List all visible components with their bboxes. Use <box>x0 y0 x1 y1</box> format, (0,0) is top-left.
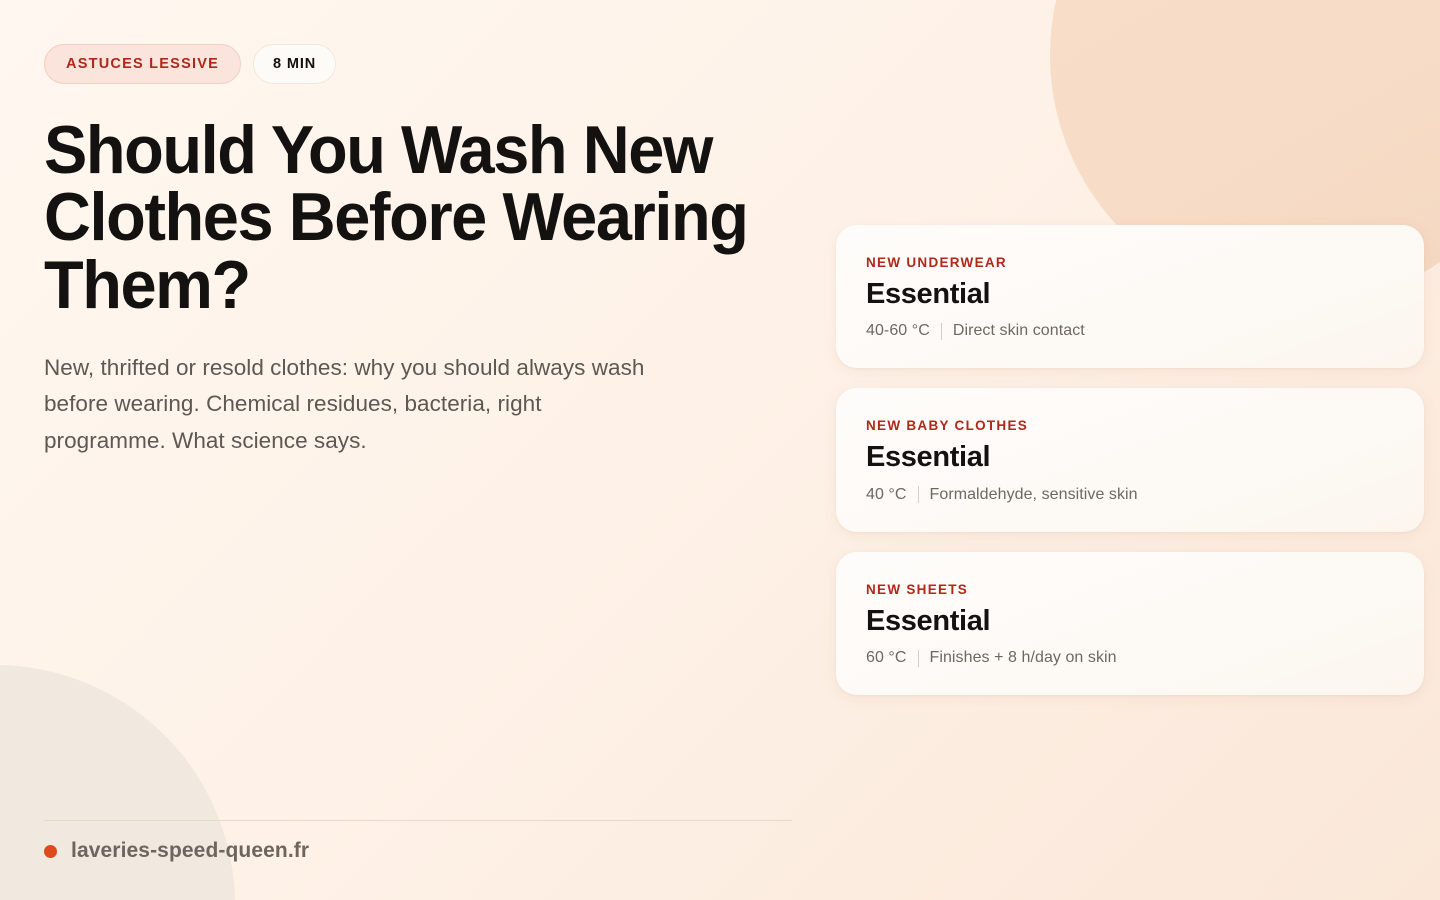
article-deck: New, thrifted or resold clothes: why you… <box>44 350 669 459</box>
card-kicker: NEW UNDERWEAR <box>866 255 1394 270</box>
divider-icon <box>918 486 919 503</box>
card-temperature: 40-60 °C <box>866 322 930 340</box>
footer: laveries-speed-queen.fr <box>44 820 792 863</box>
card-title: Essential <box>866 279 1394 309</box>
list-item[interactable]: NEW BABY CLOTHES Essential 40 °C Formald… <box>836 388 1424 531</box>
recommendation-card-list: NEW UNDERWEAR Essential 40-60 °C Direct … <box>836 225 1424 695</box>
hero-content: ASTUCES LESSIVE 8 MIN Should You Wash Ne… <box>0 0 1440 900</box>
badge-row: ASTUCES LESSIVE 8 MIN <box>44 44 804 84</box>
card-kicker: NEW BABY CLOTHES <box>866 418 1394 433</box>
card-meta: 40 °C Formaldehyde, sensitive skin <box>866 486 1394 504</box>
card-reason: Finishes + 8 h/day on skin <box>930 649 1117 667</box>
page-title: Should You Wash New Clothes Before Weari… <box>44 117 770 319</box>
article-header: ASTUCES LESSIVE 8 MIN Should You Wash Ne… <box>44 44 804 459</box>
card-meta: 40-60 °C Direct skin contact <box>866 322 1394 340</box>
card-title: Essential <box>866 442 1394 472</box>
footer-divider <box>44 820 792 821</box>
card-reason: Direct skin contact <box>953 322 1085 340</box>
site-url[interactable]: laveries-speed-queen.fr <box>71 839 309 863</box>
dot-icon <box>44 845 57 858</box>
list-item[interactable]: NEW UNDERWEAR Essential 40-60 °C Direct … <box>836 225 1424 368</box>
card-temperature: 40 °C <box>866 486 907 504</box>
card-title: Essential <box>866 606 1394 636</box>
card-temperature: 60 °C <box>866 649 907 667</box>
card-kicker: NEW SHEETS <box>866 582 1394 597</box>
category-badge[interactable]: ASTUCES LESSIVE <box>44 44 241 84</box>
read-time-badge: 8 MIN <box>253 44 336 84</box>
divider-icon <box>918 650 919 667</box>
divider-icon <box>941 323 942 340</box>
card-meta: 60 °C Finishes + 8 h/day on skin <box>866 649 1394 667</box>
card-reason: Formaldehyde, sensitive skin <box>930 486 1138 504</box>
footer-row: laveries-speed-queen.fr <box>44 839 792 863</box>
list-item[interactable]: NEW SHEETS Essential 60 °C Finishes + 8 … <box>836 552 1424 695</box>
